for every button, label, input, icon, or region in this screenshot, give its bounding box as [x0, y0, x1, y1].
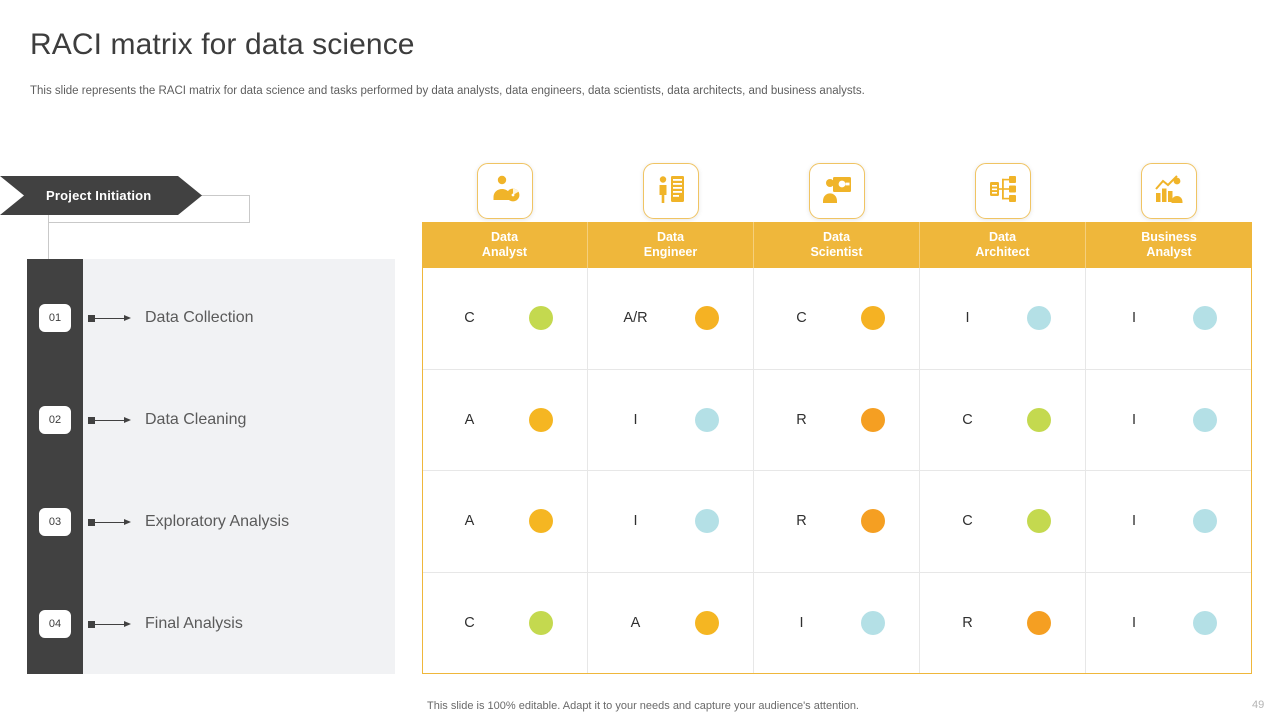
- matrix-cell[interactable]: I: [588, 471, 754, 573]
- person-chart-icon: [489, 173, 521, 210]
- raci-letter: I: [955, 310, 981, 326]
- raci-letter: C: [955, 513, 981, 529]
- matrix-column-header: BusinessAnalyst: [1086, 222, 1252, 268]
- raci-status-dot: [861, 509, 885, 533]
- step-number-badge: 01: [38, 303, 72, 333]
- raci-letter: R: [955, 615, 981, 631]
- matrix-cell[interactable]: C: [422, 573, 588, 675]
- footer-note: This slide is 100% editable. Adapt it to…: [427, 700, 859, 712]
- matrix-cell[interactable]: C: [422, 268, 588, 370]
- matrix-cell[interactable]: A: [588, 573, 754, 675]
- column-header-line1: Data: [989, 230, 1016, 245]
- matrix-cell[interactable]: I: [1086, 471, 1252, 573]
- step-label: Final Analysis: [145, 615, 243, 633]
- step-number-badge: 02: [38, 405, 72, 435]
- raci-status-dot: [695, 408, 719, 432]
- raci-status-dot: [861, 306, 885, 330]
- column-header-line2: Engineer: [644, 245, 698, 260]
- phase-connector-line: [48, 222, 49, 260]
- raci-letter: I: [623, 412, 649, 428]
- raci-status-dot: [861, 611, 885, 635]
- step-label: Data Collection: [145, 309, 254, 327]
- raci-status-dot: [1193, 408, 1217, 432]
- raci-letter: C: [457, 615, 483, 631]
- column-header-line1: Business: [1141, 230, 1197, 245]
- matrix-cell[interactable]: C: [920, 471, 1086, 573]
- column-header-line2: Architect: [975, 245, 1029, 260]
- step-row[interactable]: 03Exploratory Analysis: [27, 492, 395, 552]
- icon-tile-1: [477, 163, 533, 219]
- icon-tile-4: [975, 163, 1031, 219]
- column-header-line1: Data: [823, 230, 850, 245]
- page-title: RACI matrix for data science: [30, 28, 415, 62]
- raci-letter: I: [623, 513, 649, 529]
- matrix-left-edge: [422, 268, 423, 674]
- phase-banner[interactable]: Project Initiation: [0, 176, 202, 215]
- slide-canvas: RACI matrix for data science This slide …: [0, 0, 1280, 720]
- matrix-column-header: DataAnalyst: [422, 222, 588, 268]
- raci-status-dot: [1193, 306, 1217, 330]
- raci-matrix: DataAnalystDataEngineerDataScientistData…: [422, 222, 1252, 674]
- icon-tile-3: [809, 163, 865, 219]
- icon-tile-2: [643, 163, 699, 219]
- raci-status-dot: [1027, 611, 1051, 635]
- matrix-bottom-edge: [422, 673, 1252, 674]
- raci-letter: A/R: [623, 310, 649, 326]
- raci-status-dot: [1027, 509, 1051, 533]
- matrix-column-header: DataArchitect: [920, 222, 1086, 268]
- matrix-cell[interactable]: I: [754, 573, 920, 675]
- matrix-column-header: DataScientist: [754, 222, 920, 268]
- step-label: Exploratory Analysis: [145, 513, 289, 531]
- step-row[interactable]: 04Final Analysis: [27, 594, 395, 654]
- raci-status-dot: [529, 509, 553, 533]
- step-number-badge: 04: [38, 609, 72, 639]
- matrix-cell[interactable]: C: [920, 370, 1086, 472]
- matrix-header-row: DataAnalystDataEngineerDataScientistData…: [422, 222, 1252, 268]
- step-label: Data Cleaning: [145, 411, 246, 429]
- raci-status-dot: [695, 306, 719, 330]
- matrix-cell[interactable]: I: [920, 268, 1086, 370]
- raci-letter: I: [1121, 412, 1147, 428]
- step-arrow-icon: [88, 312, 136, 324]
- raci-status-dot: [1027, 408, 1051, 432]
- raci-letter: C: [955, 412, 981, 428]
- raci-letter: A: [457, 412, 483, 428]
- raci-letter: I: [1121, 310, 1147, 326]
- matrix-cell[interactable]: R: [754, 471, 920, 573]
- hierarchy-nodes-icon: [987, 173, 1019, 210]
- raci-status-dot: [861, 408, 885, 432]
- column-header-line1: Data: [491, 230, 518, 245]
- raci-status-dot: [1193, 611, 1217, 635]
- raci-letter: A: [457, 513, 483, 529]
- matrix-body: CA/RCIIAIRCIAIRCICAIRI: [422, 268, 1252, 674]
- matrix-cell[interactable]: I: [1086, 268, 1252, 370]
- page-number: 49: [1252, 699, 1264, 711]
- raci-status-dot: [695, 509, 719, 533]
- raci-letter: I: [1121, 513, 1147, 529]
- matrix-cell[interactable]: C: [754, 268, 920, 370]
- column-header-line1: Data: [657, 230, 684, 245]
- column-header-line2: Analyst: [482, 245, 527, 260]
- raci-letter: I: [1121, 615, 1147, 631]
- raci-status-dot: [1193, 509, 1217, 533]
- raci-status-dot: [695, 611, 719, 635]
- raci-letter: R: [789, 412, 815, 428]
- raci-status-dot: [1027, 306, 1051, 330]
- person-data-board-icon: [655, 173, 687, 210]
- raci-status-dot: [529, 611, 553, 635]
- column-header-line2: Analyst: [1146, 245, 1191, 260]
- raci-letter: C: [789, 310, 815, 326]
- raci-status-dot: [529, 408, 553, 432]
- step-row[interactable]: 01Data Collection: [27, 288, 395, 348]
- raci-letter: R: [789, 513, 815, 529]
- matrix-cell[interactable]: I: [1086, 573, 1252, 675]
- step-arrow-icon: [88, 414, 136, 426]
- raci-letter: I: [789, 615, 815, 631]
- matrix-cell[interactable]: A/R: [588, 268, 754, 370]
- matrix-cell[interactable]: A: [422, 471, 588, 573]
- person-presentation-gear-icon: [821, 173, 853, 210]
- column-header-line2: Scientist: [810, 245, 862, 260]
- page-subtitle: This slide represents the RACI matrix fo…: [30, 85, 865, 97]
- raci-letter: A: [623, 615, 649, 631]
- matrix-cell[interactable]: I: [588, 370, 754, 472]
- matrix-cell[interactable]: I: [1086, 370, 1252, 472]
- raci-status-dot: [529, 306, 553, 330]
- raci-letter: C: [457, 310, 483, 326]
- step-number-badge: 03: [38, 507, 72, 537]
- matrix-right-edge: [1251, 268, 1252, 674]
- step-arrow-icon: [88, 516, 136, 528]
- icon-tile-5: [1141, 163, 1197, 219]
- step-row[interactable]: 02Data Cleaning: [27, 390, 395, 450]
- matrix-column-header: DataEngineer: [588, 222, 754, 268]
- matrix-cell[interactable]: R: [754, 370, 920, 472]
- matrix-cell[interactable]: R: [920, 573, 1086, 675]
- matrix-cell[interactable]: A: [422, 370, 588, 472]
- phase-banner-label: Project Initiation: [46, 188, 151, 203]
- bar-chart-person-icon: [1153, 173, 1185, 210]
- step-arrow-icon: [88, 618, 136, 630]
